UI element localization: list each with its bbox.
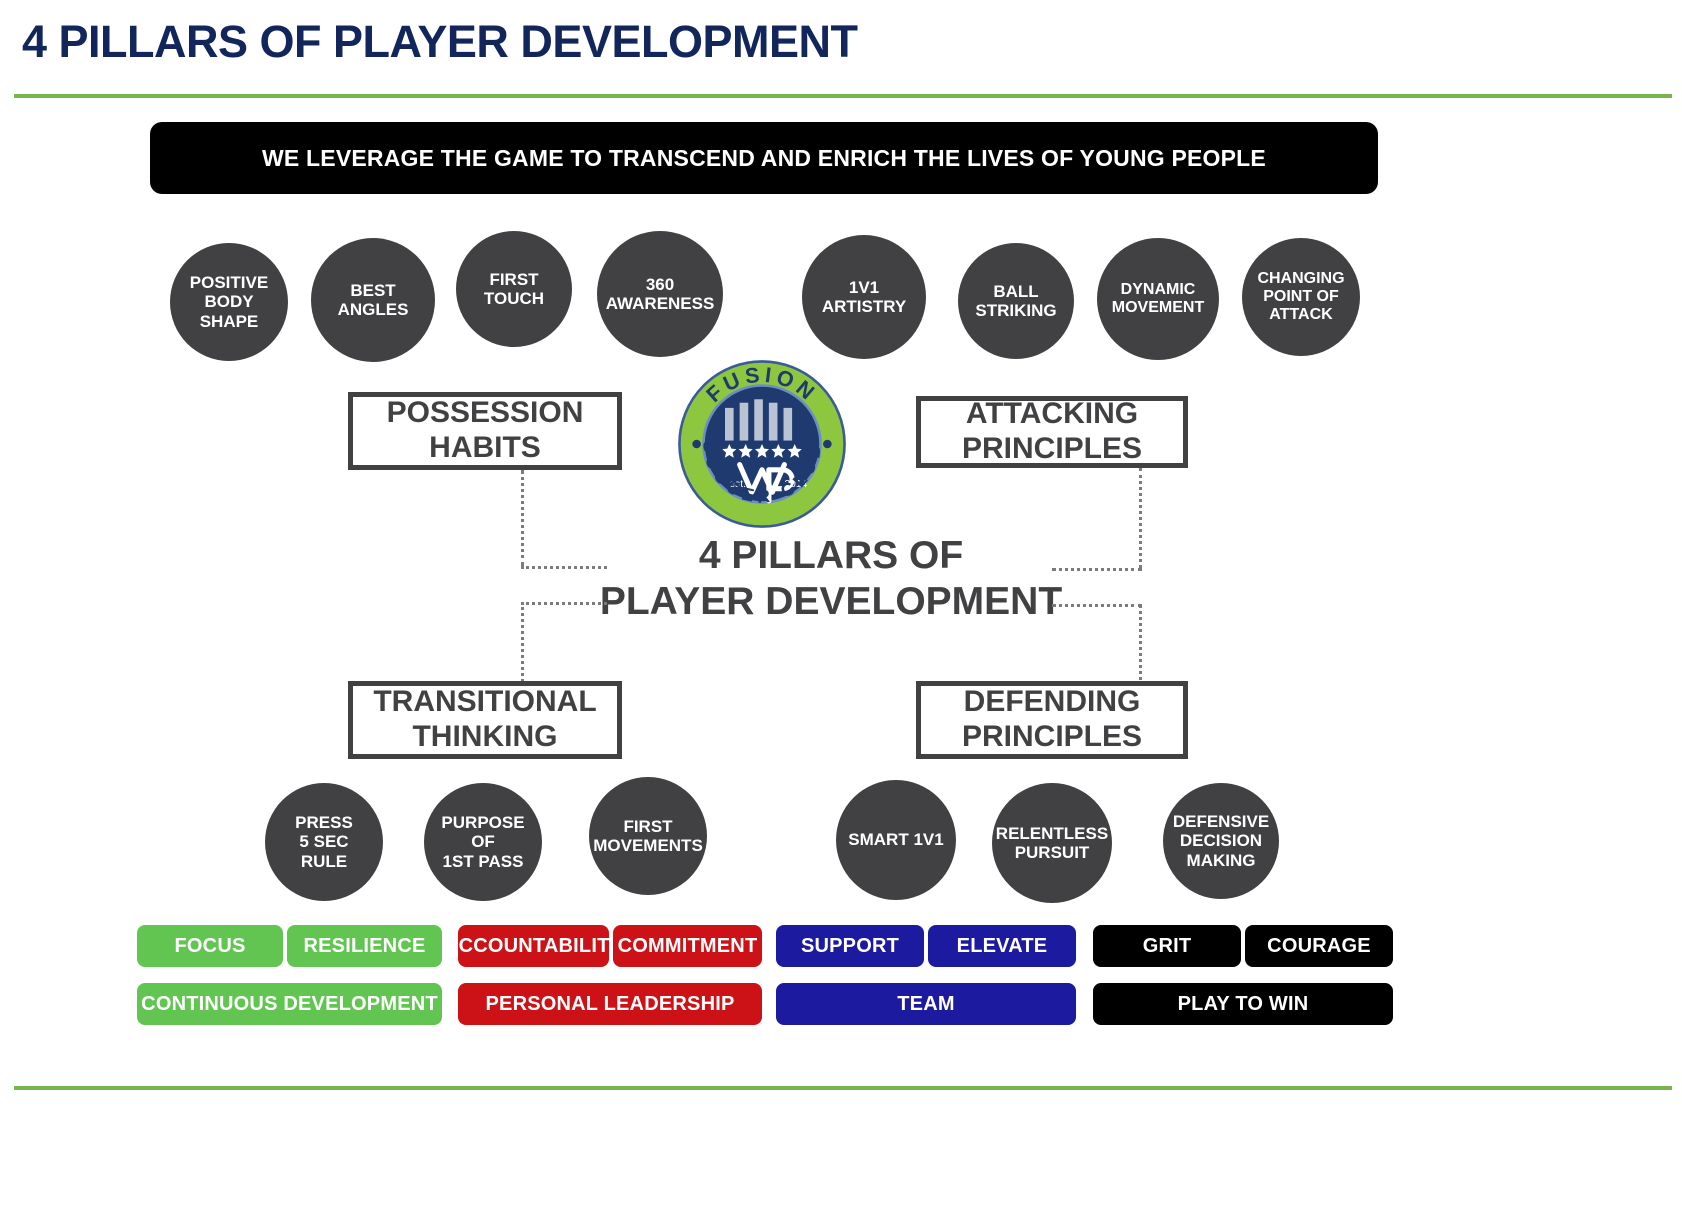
circle-line-1: FIRST bbox=[478, 270, 550, 289]
pillar-line-2: PRINCIPLES bbox=[962, 432, 1142, 465]
value-bar-personal-leadership[interactable]: PERSONAL LEADERSHIP bbox=[458, 983, 762, 1025]
connector-defending-vertical bbox=[1139, 604, 1142, 688]
value-bar-play-to-win[interactable]: PLAY TO WIN bbox=[1093, 983, 1393, 1025]
circle-line-2: AWARENESS bbox=[600, 294, 721, 313]
circle-line-2: 1ST PASS bbox=[430, 852, 536, 871]
value-bar-label: COURAGE bbox=[1267, 935, 1371, 958]
circle-1v1-artistry[interactable]: 1V1 ARTISTRY bbox=[802, 235, 926, 359]
circle-line-1: BALL bbox=[969, 282, 1062, 301]
circle-360-awareness[interactable]: 360 AWARENESS bbox=[597, 231, 723, 357]
value-bar-label: TEAM bbox=[897, 993, 954, 1016]
circle-line-1: SMART 1V1 bbox=[842, 830, 949, 849]
circle-press-5-sec-rule[interactable]: PRESS 5 SEC RULE bbox=[265, 783, 383, 901]
value-bar-grit[interactable]: GRIT bbox=[1093, 925, 1241, 967]
pillar-line-2: HABITS bbox=[429, 431, 541, 464]
connector-defending-horizontal bbox=[1052, 604, 1142, 607]
pillar-line-1: POSSESSION bbox=[387, 396, 584, 429]
pillar-line-2: PRINCIPLES bbox=[962, 720, 1142, 753]
circle-line-2: PURSUIT bbox=[990, 843, 1114, 862]
circle-positive-body-shape[interactable]: POSITIVE BODY SHAPE bbox=[170, 243, 288, 361]
value-bar-continuous-development[interactable]: CONTINUOUS DEVELOPMENT bbox=[137, 983, 442, 1025]
pillar-possession-habits[interactable]: POSSESSION HABITS bbox=[348, 392, 622, 470]
circle-dynamic-movement[interactable]: DYNAMIC MOVEMENT bbox=[1097, 238, 1219, 360]
page-title: 4 PILLARS OF PLAYER DEVELOPMENT bbox=[22, 16, 857, 68]
circle-line-1: RELENTLESS bbox=[990, 824, 1114, 843]
circle-ball-striking[interactable]: BALL STRIKING bbox=[958, 243, 1074, 359]
value-bar-elevate[interactable]: ELEVATE bbox=[928, 925, 1076, 967]
circle-line-1: DYNAMIC bbox=[1106, 281, 1210, 299]
circle-changing-point-of-attack[interactable]: CHANGING POINT OF ATTACK bbox=[1242, 238, 1360, 356]
connector-transitional-horizontal bbox=[521, 602, 607, 605]
value-bar-label: COMMITMENT bbox=[618, 935, 758, 958]
value-bar-label: PERSONAL LEADERSHIP bbox=[485, 993, 734, 1016]
circle-line-1: PURPOSE OF bbox=[430, 813, 536, 851]
circle-line-1: 360 bbox=[600, 275, 721, 294]
fusion-soccer-club-logo: est. 2014 FUSION SOCCER CLUB bbox=[676, 358, 848, 530]
pillar-attacking-principles[interactable]: ATTACKING PRINCIPLES bbox=[916, 396, 1188, 468]
circle-first-touch[interactable]: FIRST TOUCH bbox=[456, 231, 572, 347]
divider-bottom bbox=[14, 1086, 1672, 1090]
circle-line-1: FIRST bbox=[587, 817, 709, 836]
value-bar-label: FOCUS bbox=[175, 935, 246, 958]
circle-line-3: MAKING bbox=[1167, 851, 1275, 870]
pillar-line-2: THINKING bbox=[412, 720, 557, 753]
value-bar-team[interactable]: TEAM bbox=[776, 983, 1076, 1025]
mission-banner: WE LEVERAGE THE GAME TO TRANSCEND AND EN… bbox=[150, 122, 1378, 194]
value-bar-courage[interactable]: COURAGE bbox=[1245, 925, 1393, 967]
circle-line-1: DEFENSIVE bbox=[1167, 812, 1275, 831]
circle-line-1: 1V1 bbox=[816, 278, 912, 297]
value-bar-label: RESILIENCE bbox=[303, 935, 425, 958]
circle-line-2: ANGLES bbox=[332, 300, 415, 319]
value-bar-label: ELEVATE bbox=[957, 935, 1048, 958]
circle-line-1: CHANGING bbox=[1251, 270, 1350, 288]
value-bar-label: ACCOUNTABILITY bbox=[444, 935, 623, 958]
circle-smart-1v1[interactable]: SMART 1V1 bbox=[836, 780, 956, 900]
circle-line-2: TOUCH bbox=[478, 289, 550, 308]
circle-line-2: DECISION bbox=[1167, 831, 1275, 850]
circle-line-1: BEST bbox=[332, 281, 415, 300]
circle-line-2: 5 SEC RULE bbox=[271, 832, 377, 870]
value-bar-accountability[interactable]: ACCOUNTABILITY bbox=[458, 925, 609, 967]
circle-line-3: ATTACK bbox=[1251, 306, 1350, 324]
divider-top bbox=[14, 94, 1672, 98]
pillar-transitional-thinking[interactable]: TRANSITIONAL THINKING bbox=[348, 681, 622, 759]
circle-line-2: MOVEMENT bbox=[1106, 299, 1210, 317]
value-bar-focus[interactable]: FOCUS bbox=[137, 925, 283, 967]
logo-crest-icon: est. 2014 FUSION SOCCER CLUB bbox=[676, 358, 848, 530]
circle-line-2: ARTISTRY bbox=[816, 297, 912, 316]
pillar-defending-principles[interactable]: DEFENDING PRINCIPLES bbox=[916, 681, 1188, 759]
circle-defensive-decision-making[interactable]: DEFENSIVE DECISION MAKING bbox=[1163, 783, 1279, 899]
value-bar-label: GRIT bbox=[1143, 935, 1192, 958]
pillar-line-1: ATTACKING bbox=[966, 397, 1138, 430]
circle-relentless-pursuit[interactable]: RELENTLESS PURSUIT bbox=[992, 783, 1112, 903]
center-heading-line-2: PLAYER DEVELOPMENT bbox=[541, 579, 1121, 625]
mission-banner-text: WE LEVERAGE THE GAME TO TRANSCEND AND EN… bbox=[262, 145, 1266, 172]
circle-line-1: PRESS bbox=[271, 813, 377, 832]
connector-attacking-vertical bbox=[1139, 468, 1142, 568]
value-bar-support[interactable]: SUPPORT bbox=[776, 925, 924, 967]
circle-first-movements[interactable]: FIRST MOVEMENTS bbox=[589, 777, 707, 895]
value-bar-commitment[interactable]: COMMITMENT bbox=[613, 925, 762, 967]
value-bar-label: CONTINUOUS DEVELOPMENT bbox=[141, 993, 438, 1016]
connector-attacking-horizontal bbox=[1052, 568, 1142, 571]
connector-transitional-vertical bbox=[521, 602, 524, 688]
circle-purpose-of-1st-pass[interactable]: PURPOSE OF 1ST PASS bbox=[424, 783, 542, 901]
pillar-line-1: TRANSITIONAL bbox=[373, 685, 596, 718]
connector-possession-vertical bbox=[521, 470, 524, 566]
circle-best-angles[interactable]: BEST ANGLES bbox=[311, 238, 435, 362]
slide-canvas: 4 PILLARS OF PLAYER DEVELOPMENT WE LEVER… bbox=[0, 0, 1682, 1214]
circle-line-1: POSITIVE bbox=[176, 273, 282, 292]
center-heading-line-1: 4 PILLARS OF bbox=[541, 533, 1121, 579]
value-bar-label: PLAY TO WIN bbox=[1178, 993, 1309, 1016]
circle-line-2: BODY SHAPE bbox=[176, 292, 282, 330]
circle-line-2: POINT OF bbox=[1251, 288, 1350, 306]
center-heading: 4 PILLARS OF PLAYER DEVELOPMENT bbox=[541, 533, 1121, 625]
pillar-line-1: DEFENDING bbox=[964, 685, 1141, 718]
circle-line-2: STRIKING bbox=[969, 301, 1062, 320]
value-bar-label: SUPPORT bbox=[801, 935, 899, 958]
circle-line-2: MOVEMENTS bbox=[587, 836, 709, 855]
connector-possession-horizontal bbox=[521, 566, 607, 569]
value-bar-resilience[interactable]: RESILIENCE bbox=[287, 925, 442, 967]
